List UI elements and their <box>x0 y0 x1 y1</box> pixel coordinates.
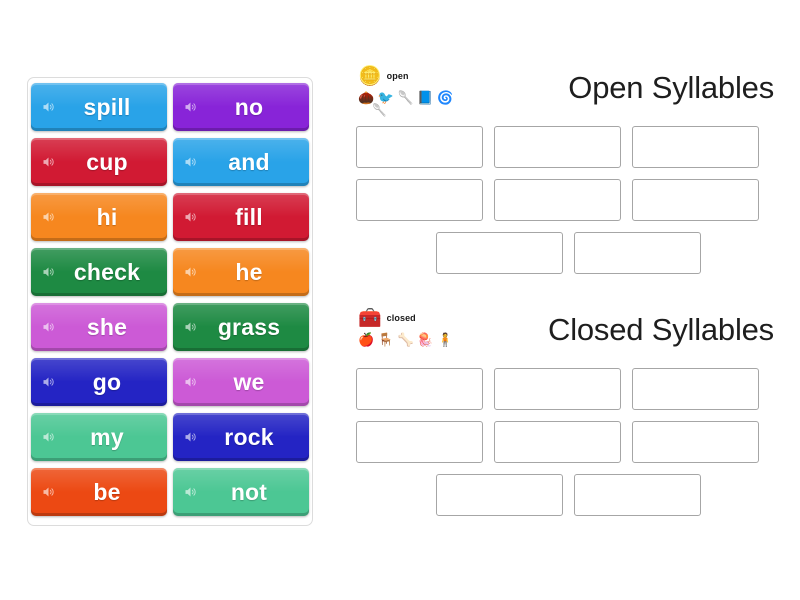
closed-treasure-chest-icon: 🧰 <box>358 309 382 328</box>
word-tile[interactable]: rock <box>173 413 309 461</box>
open-treasure-chest-icon: 🪙 <box>358 67 382 86</box>
drop-zone-row <box>356 474 780 516</box>
drop-zone[interactable] <box>356 179 483 221</box>
speaker-icon[interactable] <box>41 210 56 225</box>
word-tile-label: we <box>217 371 264 394</box>
drop-zones-closed <box>356 368 780 516</box>
drop-zone-row <box>356 368 780 410</box>
word-tile-label: rock <box>208 426 273 449</box>
word-tile-label: spill <box>67 96 130 119</box>
word-tile-label: not <box>215 481 267 504</box>
speaker-icon[interactable] <box>183 485 198 500</box>
speaker-icon[interactable] <box>41 155 56 170</box>
drop-zone-row <box>356 421 780 463</box>
group-title-open-syllables: Open Syllables <box>568 70 774 106</box>
drop-zone[interactable] <box>574 232 701 274</box>
word-tile-label: go <box>77 371 122 394</box>
thumb-objects-row-2: 🥄 <box>372 104 458 116</box>
thumb-caption: open <box>387 71 409 81</box>
speaker-icon[interactable] <box>183 210 198 225</box>
drop-zone[interactable] <box>436 474 563 516</box>
drop-zone-row <box>356 232 780 274</box>
word-tiles-grid: spillnocupandhifillcheckheshegrassgowemy… <box>33 83 307 516</box>
drop-zone[interactable] <box>494 179 621 221</box>
speaker-icon[interactable] <box>183 375 198 390</box>
word-tile[interactable]: check <box>31 248 167 296</box>
thumb-chest-row: 🧰 closed <box>358 304 458 332</box>
word-tile[interactable]: fill <box>173 193 309 241</box>
speaker-icon[interactable] <box>41 485 56 500</box>
drop-zone[interactable] <box>494 126 621 168</box>
word-tile[interactable]: not <box>173 468 309 516</box>
word-tile-label: cup <box>70 151 128 174</box>
word-tile-label: fill <box>219 206 263 229</box>
word-tile-label: and <box>212 151 270 174</box>
speaker-icon[interactable] <box>41 430 56 445</box>
drop-zone[interactable] <box>574 474 701 516</box>
word-tile[interactable]: and <box>173 138 309 186</box>
group-title-closed-syllables: Closed Syllables <box>548 312 774 348</box>
word-tile[interactable]: my <box>31 413 167 461</box>
word-tile-label: my <box>74 426 124 449</box>
word-tiles-tray: spillnocupandhifillcheckheshegrassgowemy… <box>27 77 313 526</box>
drop-zone[interactable] <box>356 126 483 168</box>
drop-zone[interactable] <box>356 421 483 463</box>
word-tile[interactable]: hi <box>31 193 167 241</box>
drop-zone-row <box>356 126 780 168</box>
word-tile-label: she <box>71 316 127 339</box>
speaker-icon[interactable] <box>41 265 56 280</box>
word-tile[interactable]: cup <box>31 138 167 186</box>
word-tile-label: he <box>219 261 262 284</box>
drop-zone[interactable] <box>632 179 759 221</box>
speaker-icon[interactable] <box>41 100 56 115</box>
word-tile-label: grass <box>202 316 280 339</box>
word-tile[interactable]: grass <box>173 303 309 351</box>
thumb-objects-row-1: 🍎 🪑 🦴 🪼 🧍 <box>358 333 458 346</box>
drop-zones-open <box>356 126 780 274</box>
speaker-icon[interactable] <box>183 100 198 115</box>
word-tile-label: check <box>58 261 140 284</box>
drop-zone[interactable] <box>436 232 563 274</box>
word-tile[interactable]: be <box>31 468 167 516</box>
drop-zone-row <box>356 179 780 221</box>
speaker-icon[interactable] <box>183 155 198 170</box>
group-header: 🧰 closed 🍎 🪑 🦴 🪼 🧍 Closed Syllables <box>356 304 780 366</box>
word-tile[interactable]: no <box>173 83 309 131</box>
word-tile[interactable]: go <box>31 358 167 406</box>
drop-zone[interactable] <box>494 368 621 410</box>
group-closed-syllables: 🧰 closed 🍎 🪑 🦴 🪼 🧍 Closed Syllables <box>356 304 780 527</box>
group-thumbnail-closed: 🧰 closed 🍎 🪑 🦴 🪼 🧍 <box>358 304 458 366</box>
drop-zone[interactable] <box>632 368 759 410</box>
speaker-icon[interactable] <box>183 430 198 445</box>
thumb-caption: closed <box>387 313 416 323</box>
group-thumbnail-open: 🪙 open 🌰 🐦 🥄 📘 🌀 🥄 <box>358 62 458 124</box>
drop-zone[interactable] <box>494 421 621 463</box>
word-tile-label: no <box>219 96 264 119</box>
speaker-icon[interactable] <box>41 375 56 390</box>
drop-zone[interactable] <box>632 421 759 463</box>
word-tile-label: hi <box>81 206 118 229</box>
speaker-icon[interactable] <box>183 265 198 280</box>
drop-zone[interactable] <box>632 126 759 168</box>
speaker-icon[interactable] <box>183 320 198 335</box>
word-tile-label: be <box>77 481 120 504</box>
word-tile[interactable]: she <box>31 303 167 351</box>
word-tile[interactable]: we <box>173 358 309 406</box>
group-header: 🪙 open 🌰 🐦 🥄 📘 🌀 🥄 Open Syllables <box>356 62 780 124</box>
thumb-chest-row: 🪙 open <box>358 62 458 90</box>
speaker-icon[interactable] <box>41 320 56 335</box>
group-open-syllables: 🪙 open 🌰 🐦 🥄 📘 🌀 🥄 Open Syllables <box>356 62 780 285</box>
drop-zone[interactable] <box>356 368 483 410</box>
word-tile[interactable]: he <box>173 248 309 296</box>
word-tile[interactable]: spill <box>31 83 167 131</box>
